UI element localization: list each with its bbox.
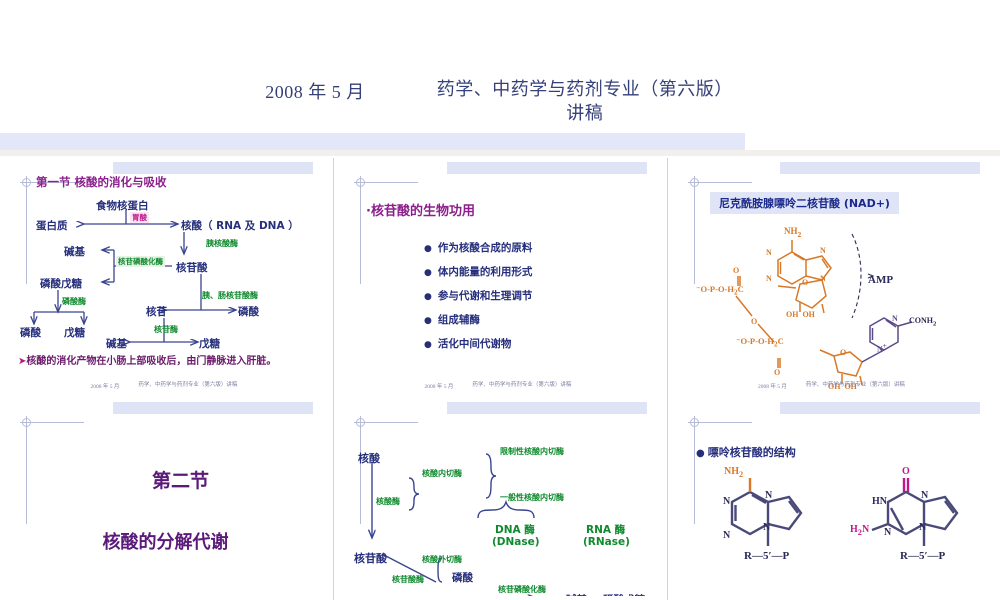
enzyme-rnase-line1: RNA 酶: [586, 522, 625, 537]
label-adenine-tail: R—5′—P: [744, 550, 789, 562]
label-guanine-o: O: [902, 466, 910, 477]
header-rule: [0, 150, 1000, 156]
bullet-item-4: 组成辅酶: [424, 312, 480, 327]
crosshair-icon: [356, 178, 365, 187]
nicotinamide-moiety: [862, 318, 912, 362]
corner-rule-horizontal: [694, 182, 752, 183]
footer-date: 2008 年 5 月: [425, 382, 454, 390]
node-nucleoside: 核苷: [146, 304, 167, 319]
label-ring-n-3: N: [820, 246, 826, 255]
header-band: [0, 133, 745, 150]
node-phosphate-2: 磷酸: [20, 325, 41, 340]
slide-1-canvas: 第一节 核酸的消化与吸收 nucleic acid -->: [6, 162, 325, 394]
enzyme-restriction-endonuclease: 限制性核酸内切酶: [500, 446, 564, 457]
footer-title: 药学、中药学与药剂专业（第六版）讲稿: [803, 382, 908, 390]
header-title: 药学、中药学与药剂专业（第六版）讲稿: [435, 78, 735, 127]
slide-2[interactable]: ·核苷酸的生物功用 作为核酸合成的原料 体内能量的利用形式 参与代谢和生理调节 …: [334, 158, 668, 398]
node-base-1: 碱基: [64, 244, 85, 259]
slide-1-footer: 2008 年 5 月 药学、中药学与药剂专业（第六版）讲稿: [6, 382, 325, 390]
node-nucleic-acid: 核酸: [358, 450, 380, 466]
node-products: 碱基 + 磷酸戊糖: [566, 592, 645, 596]
label-oxygen-top: O: [733, 266, 739, 275]
node-nucleic-acid: 核酸（ RNA 及 DNA ）: [181, 218, 299, 233]
crosshair-icon: [22, 418, 31, 427]
enzyme-nucleosidase: 核苷酶: [154, 324, 178, 335]
node-base-2: 碱基: [106, 336, 127, 351]
enzyme-nucleoside-phosphorylase: 核苷磷酸化酶: [498, 584, 546, 595]
header-date: 2008 年 5 月: [265, 78, 365, 104]
enzyme-nuclease: 核酸酶: [376, 496, 400, 507]
slide-6-canvas: 嘌呤核苷酸的结构 NH2 N N N N: [674, 402, 992, 596]
node-phospho-pentose: 磷酸戊糖: [40, 276, 82, 291]
corner-rule-horizontal: [360, 182, 418, 183]
footer-date: 2008 年 5 月: [758, 382, 787, 390]
enzyme-dnase-line2: (DNase): [492, 536, 540, 548]
enzyme-dnase-line1: DNA 酶: [495, 522, 535, 537]
section-title: 核酸的分解代谢: [6, 528, 325, 554]
label-amp: AMP: [868, 274, 893, 286]
page-header: 2008 年 5 月 药学、中药学与药剂专业（第六版）讲稿: [0, 78, 1000, 127]
corner-rule-horizontal: [360, 422, 418, 423]
enzyme-exonuclease: 核酸外切酶: [422, 554, 462, 565]
handout-page: 2008 年 5 月 药学、中药学与药剂专业（第六版）讲稿 第一节 核酸的消化与…: [0, 0, 1000, 600]
enzyme-phosphatase: 磷酸酶: [62, 296, 86, 307]
label-guanine-n7: N: [921, 490, 928, 501]
label-conh2: CONH2: [909, 316, 936, 328]
label-guanine-n3: N: [884, 527, 891, 538]
label-ring-n-4: N: [820, 274, 826, 283]
label-adenine-n3: N: [723, 530, 730, 541]
slide-2-footer: 2008 年 5 月 药学、中药学与药剂专业（第六版）讲稿: [340, 382, 659, 390]
label-n-plus: N+: [877, 342, 887, 354]
slide-1-arrows: nucleic acid -->: [6, 162, 325, 377]
label-adenine-n9: N: [763, 522, 770, 533]
footer-title: 药学、中药学与药剂专业（第六版）讲稿: [469, 382, 574, 390]
node-pentose-1: 戊糖: [64, 325, 85, 340]
slide-3-canvas: 尼克酰胺腺嘌呤二核苷酸 (NAD+): [674, 162, 992, 394]
node-pentose-2: 戊糖: [199, 336, 220, 351]
enzyme-pancreatic-intestinal-nucleotidase: 胰、肠核苷酸酶: [202, 290, 258, 301]
node-phosphate: 磷酸: [452, 570, 473, 585]
slide-1[interactable]: 第一节 核酸的消化与吸收 nucleic acid -->: [0, 158, 334, 398]
slide-accent-strip: [780, 402, 980, 414]
node-protein: 蛋白质: [36, 218, 68, 233]
label-hydroxyls-top: OH OH: [786, 310, 815, 319]
slide-4[interactable]: 第二节 核酸的分解代谢: [0, 398, 334, 600]
footer-date: 2008 年 5 月: [91, 382, 120, 390]
slide-accent-strip: [113, 402, 313, 414]
slide-5-canvas: 核酸 核苷酸 核酸酶 核酸内切酶 核酸外切酶 限制性核酸内切酶 一般性核酸内切酶…: [340, 402, 659, 596]
node-nucleotide: 核苷酸: [176, 260, 208, 275]
slide-accent-strip: [447, 402, 647, 414]
enzyme-nucleotidase: 核苷酸酶: [392, 574, 424, 585]
nad-structure-drawing: [674, 218, 974, 393]
enzyme-endonuclease: 核酸内切酶: [422, 468, 462, 479]
label-guanine-n9: N: [919, 522, 926, 533]
enzyme-pancreatic-nuclease: 胰核酸酶: [206, 238, 238, 249]
slide-3[interactable]: 尼克酰胺腺嘌呤二核苷酸 (NAD+): [668, 158, 1000, 398]
label-guanine-h2n: H2N: [850, 524, 869, 537]
amp-bracket: [852, 234, 861, 318]
corner-rule-horizontal: [694, 422, 752, 423]
label-phosphate-bottom: ⁻O-P-O-H2C: [736, 336, 784, 349]
bullet-item-2: 体内能量的利用形式: [424, 264, 532, 279]
label-ribose-o-bottom: O: [840, 348, 846, 357]
label-adenine-n1: N: [723, 496, 730, 507]
slide-3-footer: 2008 年 5 月 药学、中药学与药剂专业（第六版）讲稿: [674, 382, 992, 390]
label-guanine-hn: HN: [872, 496, 887, 507]
enzyme-nucleoside-phosphorylase: 核苷磷酸化酶: [116, 256, 165, 267]
label-ring-n-1: N: [766, 248, 772, 257]
label-ring-n-2: N: [766, 274, 772, 283]
enzyme-rnase-line2: (RNase): [583, 536, 630, 548]
label-adenine-n7: N: [765, 490, 772, 501]
label-guanine-tail: R—5′—P: [900, 550, 945, 562]
enzyme-gastric-acid: 胃酸: [130, 212, 149, 223]
label-phosphate-top: ⁻O-P-O-H2C: [696, 284, 744, 297]
label-ring-n-pyridine: N: [892, 314, 898, 323]
footer-title: 药学、中药学与药剂专业（第六版）讲稿: [135, 382, 240, 390]
corner-rule-vertical: [694, 422, 695, 524]
node-phosphate-1: 磷酸: [238, 304, 259, 319]
slide-accent-strip: [447, 162, 647, 174]
slide-3-title: 尼克酰胺腺嘌呤二核苷酸 (NAD+): [710, 192, 899, 214]
slide-2-canvas: ·核苷酸的生物功用 作为核酸合成的原料 体内能量的利用形式 参与代谢和生理调节 …: [340, 162, 659, 394]
label-ribose-o-top: O: [802, 278, 808, 287]
node-food-nucleoprotein: 食物核蛋白: [96, 198, 149, 213]
slide-grid: 第一节 核酸的消化与吸收 nucleic acid -->: [0, 158, 1000, 600]
slide-5[interactable]: 核酸 核苷酸 核酸酶 核酸内切酶 核酸外切酶 限制性核酸内切酶 一般性核酸内切酶…: [334, 398, 668, 600]
slide-1-note: ➤核酸的消化产物在小肠上部吸收后，由门静脉进入肝脏。: [18, 355, 308, 370]
crosshair-icon: [690, 418, 699, 427]
label-adenine-nh2: NH2: [724, 466, 743, 479]
slide-6-title: 嘌呤核苷酸的结构: [696, 444, 796, 460]
label-nh2: NH2: [784, 226, 801, 239]
corner-rule-horizontal: [26, 422, 84, 423]
slide-accent-strip: [780, 162, 980, 174]
bullet-item-5: 活化中间代谢物: [424, 336, 511, 351]
enzyme-general-endonuclease: 一般性核酸内切酶: [500, 492, 564, 503]
label-oxygen-bridge: O: [751, 317, 757, 326]
crosshair-icon: [690, 178, 699, 187]
slide-6[interactable]: 嘌呤核苷酸的结构 NH2 N N N N: [668, 398, 1000, 600]
bullet-item-3: 参与代谢和生理调节: [424, 288, 532, 303]
slide-4-canvas: 第二节 核酸的分解代谢: [6, 402, 325, 596]
bullet-item-1: 作为核酸合成的原料: [424, 240, 532, 255]
section-number: 第二节: [6, 466, 325, 493]
slide-2-title: ·核苷酸的生物功用: [366, 200, 475, 219]
label-oxygen-bottom: O: [774, 368, 780, 377]
corner-rule-vertical: [360, 182, 361, 284]
slide-1-note-text: 核酸的消化产物在小肠上部吸收后，由门静脉进入肝脏。: [26, 356, 276, 367]
node-nucleotide: 核苷酸: [354, 550, 387, 566]
